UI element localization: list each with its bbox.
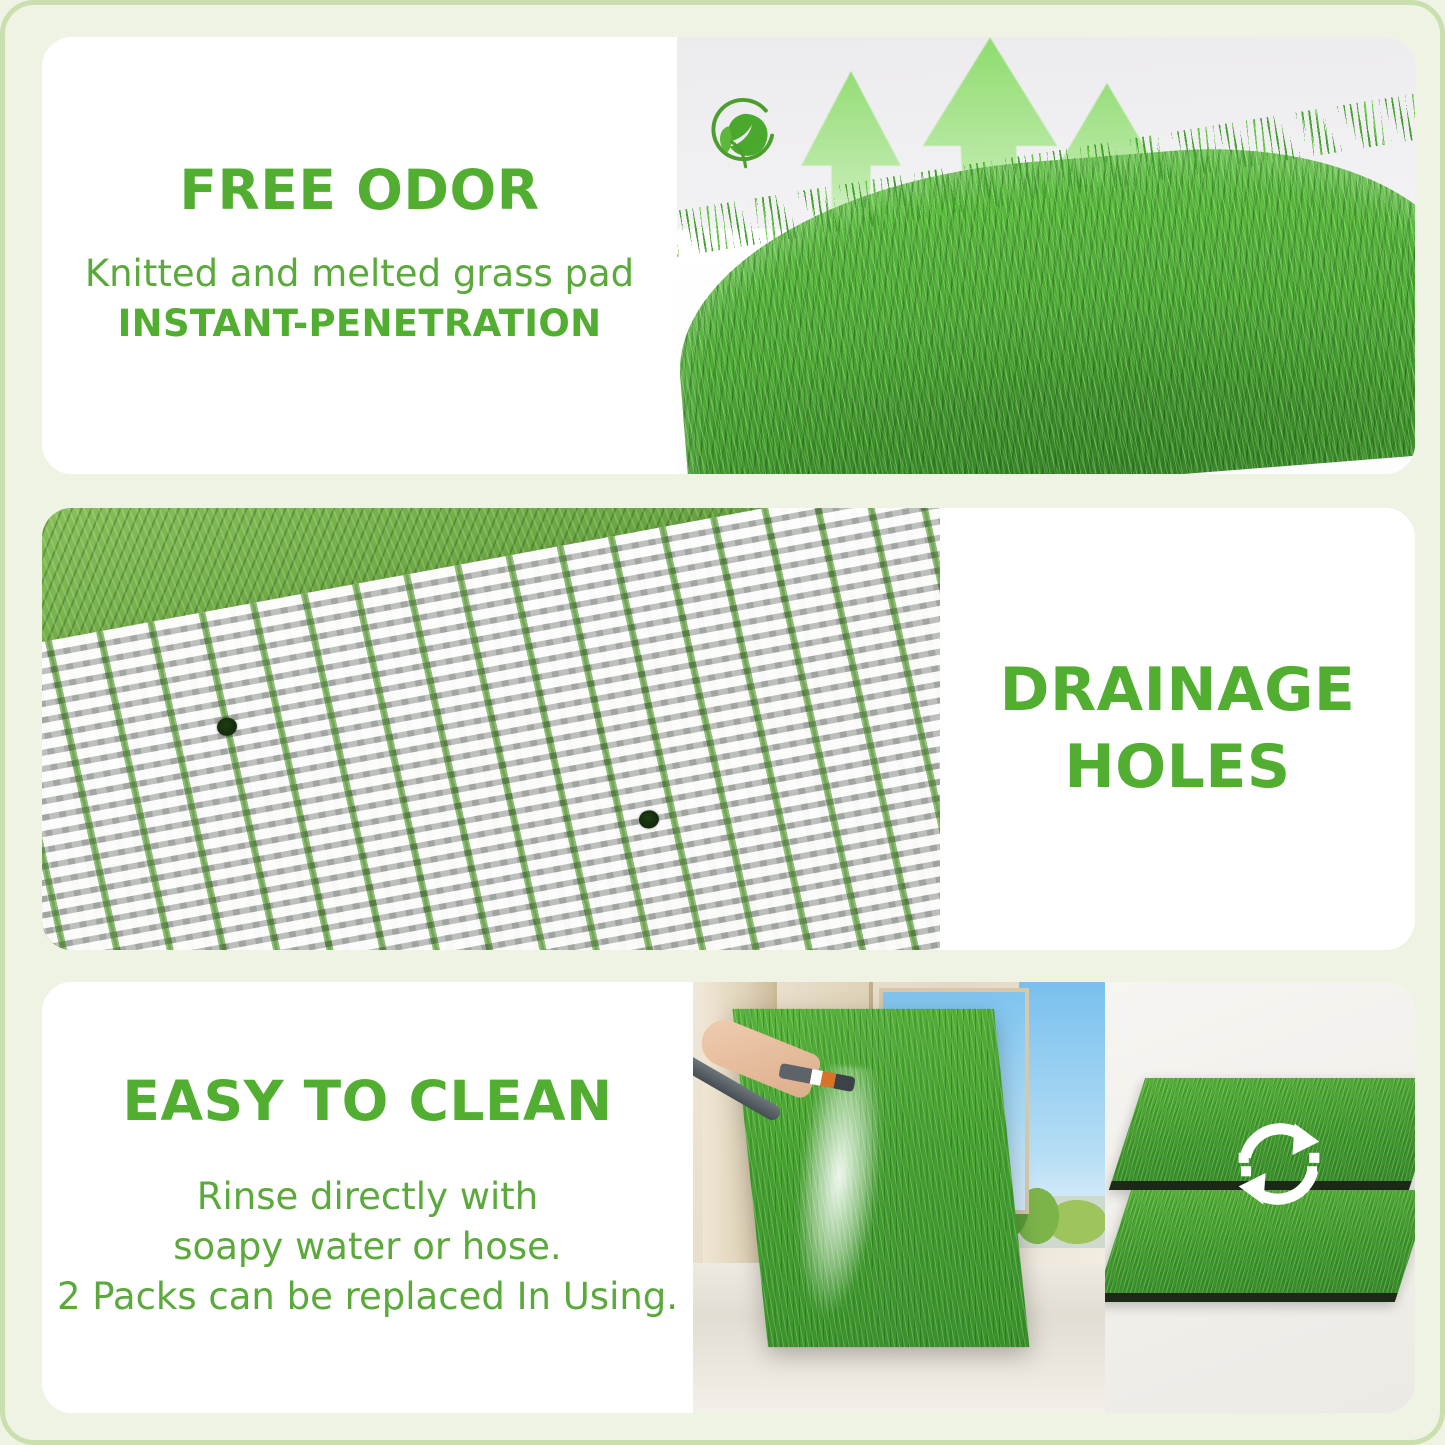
infographic-page: FREE ODOR Knitted and melted grass pad I…: [0, 0, 1445, 1445]
drainage-headline-line-2: HOLES: [1064, 729, 1290, 806]
free-odor-headline: FREE ODOR: [179, 162, 539, 220]
free-odor-subline-2: INSTANT-PENETRATION: [118, 299, 602, 349]
odor-penetration-scene: [677, 37, 1415, 474]
easy-clean-subline-3: 2 Packs can be replaced In Using.: [57, 1272, 678, 1322]
panel-free-odor: FREE ODOR Knitted and melted grass pad I…: [42, 37, 1415, 474]
artificial-grass-mound: [677, 128, 1415, 474]
easy-clean-subline-1: Rinse directly with: [197, 1172, 538, 1222]
mesh-backing-scene: [42, 508, 940, 950]
panel-drainage-holes: DRAINAGE HOLES: [42, 508, 1415, 950]
free-odor-subline-1: Knitted and melted grass pad: [85, 249, 634, 299]
easy-clean-text-pane: EASY TO CLEAN Rinse directly with soapy …: [42, 982, 693, 1413]
hose-rinse-scene: [693, 982, 1105, 1413]
eco-leaf-icon: [705, 95, 783, 173]
two-pack-scene: [1105, 982, 1415, 1413]
easy-clean-headline: EASY TO CLEAN: [122, 1073, 612, 1131]
panel-easy-to-clean: EASY TO CLEAN Rinse directly with soapy …: [42, 982, 1415, 1413]
swap-refresh-icon: [1223, 1108, 1335, 1220]
easy-clean-subline-2: soapy water or hose.: [173, 1222, 561, 1272]
free-odor-text-pane: FREE ODOR Knitted and melted grass pad I…: [42, 37, 677, 474]
drainage-headline-line-1: DRAINAGE: [1000, 652, 1356, 729]
drainage-text-pane: DRAINAGE HOLES: [940, 508, 1415, 950]
washing-scene: [693, 982, 1415, 1413]
